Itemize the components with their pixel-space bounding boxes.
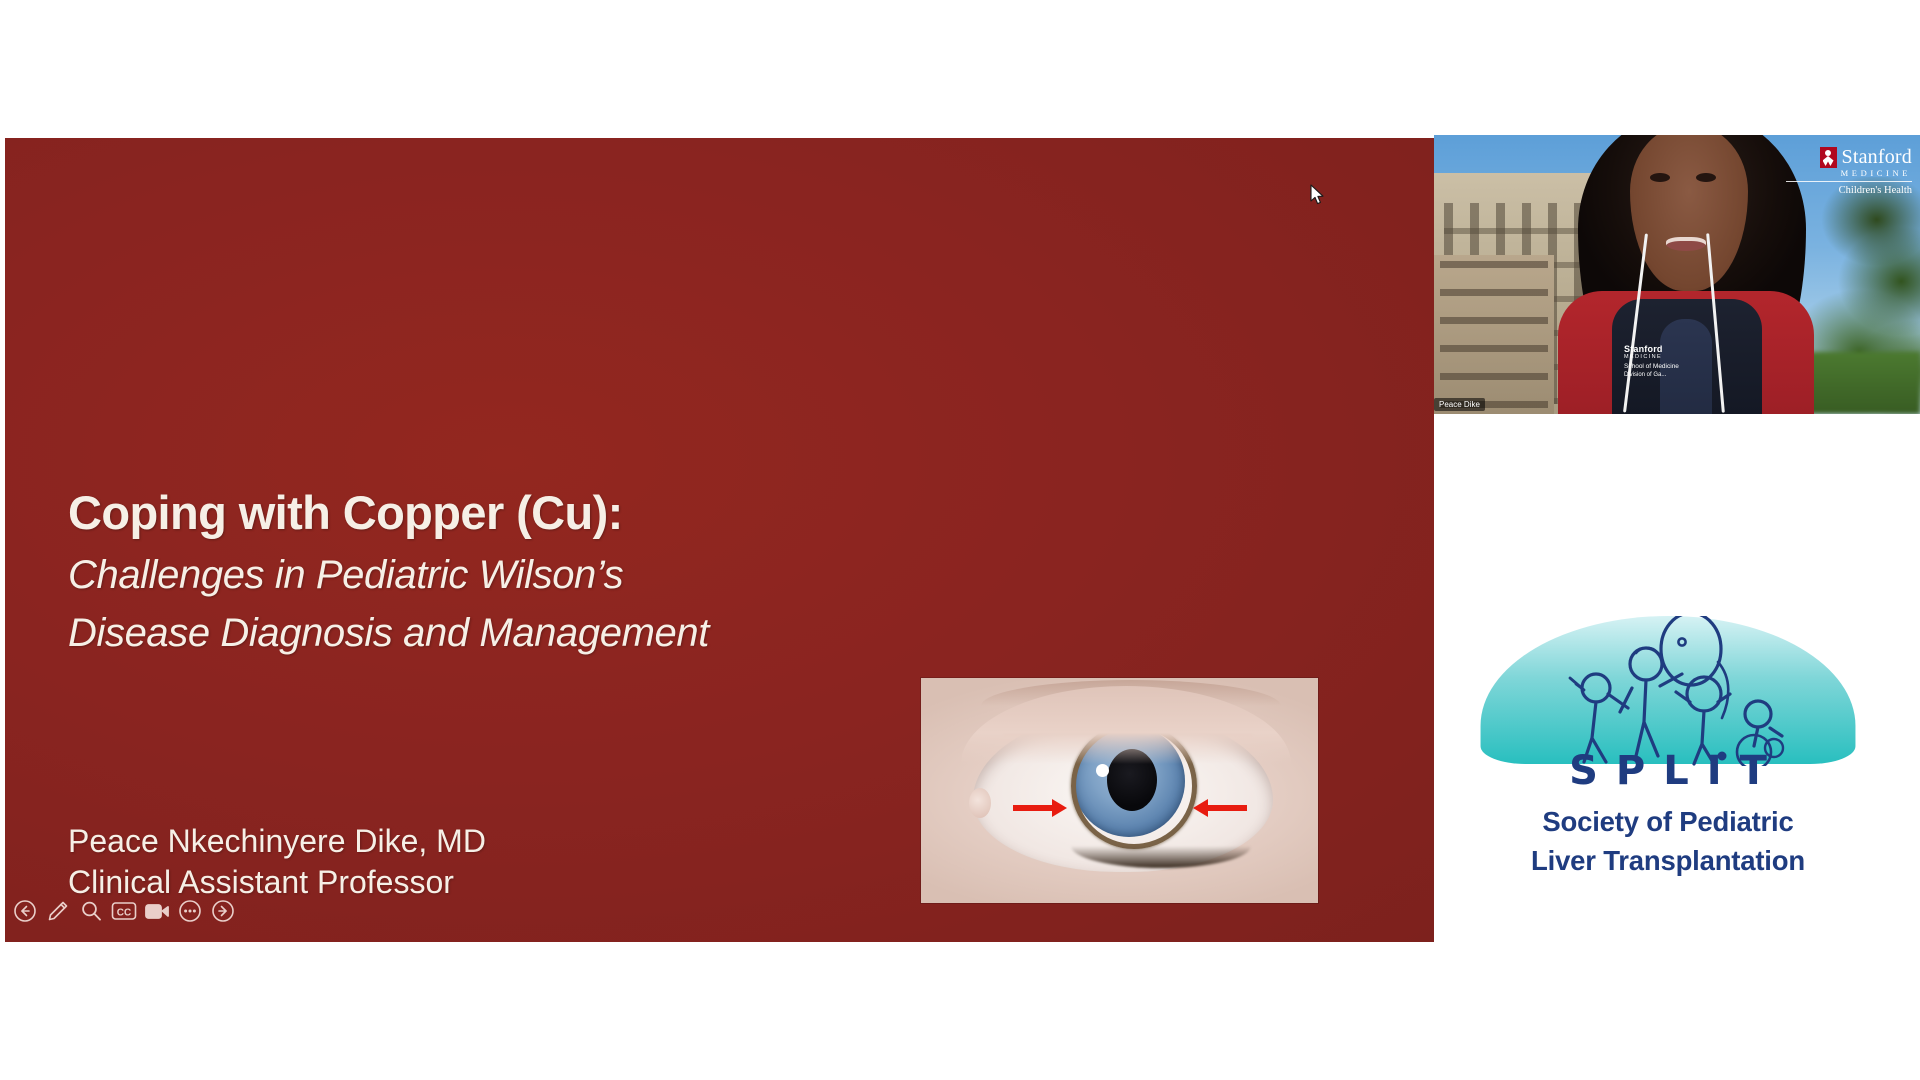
- split-acronym: SPLIT: [1468, 748, 1868, 794]
- eye-glint: [1096, 764, 1109, 777]
- vest-logo-line-1: Stanford: [1624, 345, 1708, 353]
- previous-slide-button[interactable]: [12, 898, 38, 924]
- slide-author-block: Peace Nkechinyere Dike, MD Clinical Assi…: [68, 821, 486, 903]
- split-sponsor-logo: SPLIT Society of Pediatric Liver Transpl…: [1468, 610, 1868, 930]
- vest-logo-line-2: MEDICINE: [1624, 353, 1708, 361]
- participant-mouth: [1666, 237, 1706, 251]
- slide-subtitle: Challenges in Pediatric Wilson’s Disease…: [68, 546, 709, 662]
- captions-button[interactable]: CC: [111, 898, 137, 924]
- slide-subtitle-line-1: Challenges in Pediatric Wilson’s: [68, 546, 709, 604]
- shared-slide[interactable]: Coping with Copper (Cu): Challenges in P…: [5, 138, 1434, 942]
- svg-text:CC: CC: [117, 908, 131, 919]
- stanford-sub-brand: MEDICINE: [1786, 168, 1912, 178]
- next-slide-button[interactable]: [210, 898, 236, 924]
- mouse-cursor: [1310, 184, 1326, 206]
- annotation-arrow-left-icon: [1013, 805, 1053, 811]
- eye-caruncle: [969, 788, 991, 818]
- vest-embroidered-logo: Stanford MEDICINE School of Medicine Div…: [1624, 345, 1708, 389]
- stanford-tree-mark-icon: [1820, 147, 1837, 168]
- participant-video-tile[interactable]: Stanford MEDICINE School of Medicine Div…: [1434, 135, 1920, 414]
- slide-subtitle-line-2: Disease Diagnosis and Management: [68, 604, 709, 662]
- screen-root: Coping with Copper (Cu): Challenges in P…: [0, 0, 1920, 1080]
- author-name: Peace Nkechinyere Dike, MD: [68, 821, 486, 862]
- virtual-background-building-secondary: [1434, 255, 1554, 414]
- split-name-line-2: Liver Transplantation: [1468, 841, 1868, 880]
- presenter-toolbar[interactable]: CC: [8, 898, 240, 924]
- stanford-tagline: Children's Health: [1786, 185, 1912, 196]
- video-button[interactable]: [144, 898, 170, 924]
- stanford-logo-divider: [1786, 181, 1912, 182]
- eye-photo-image: [921, 678, 1318, 903]
- split-logo-children-illustration: [1486, 616, 1850, 766]
- participant-eye-right: [1696, 173, 1716, 182]
- participant-figure: Stanford MEDICINE School of Medicine Div…: [1556, 135, 1816, 414]
- slide-title: Coping with Copper (Cu):: [68, 485, 623, 540]
- split-name-line-1: Society of Pediatric: [1468, 802, 1868, 841]
- stanford-medicine-logo: Stanford MEDICINE Children's Health: [1786, 146, 1912, 196]
- stanford-brand-name: Stanford: [1842, 146, 1912, 169]
- vest-logo-line-4: Division of Ga...: [1624, 371, 1708, 379]
- more-options-button[interactable]: [177, 898, 203, 924]
- participant-name-label: Peace Dike: [1434, 398, 1485, 411]
- zoom-button[interactable]: [78, 898, 104, 924]
- annotate-pen-button[interactable]: [45, 898, 71, 924]
- stanford-logo-row: Stanford: [1786, 146, 1912, 169]
- split-full-name: Society of Pediatric Liver Transplantati…: [1468, 802, 1868, 880]
- participant-eye-left: [1650, 173, 1670, 182]
- annotation-arrow-right-icon: [1207, 805, 1247, 811]
- vest-logo-line-3: School of Medicine: [1624, 363, 1708, 371]
- author-role: Clinical Assistant Professor: [68, 862, 486, 903]
